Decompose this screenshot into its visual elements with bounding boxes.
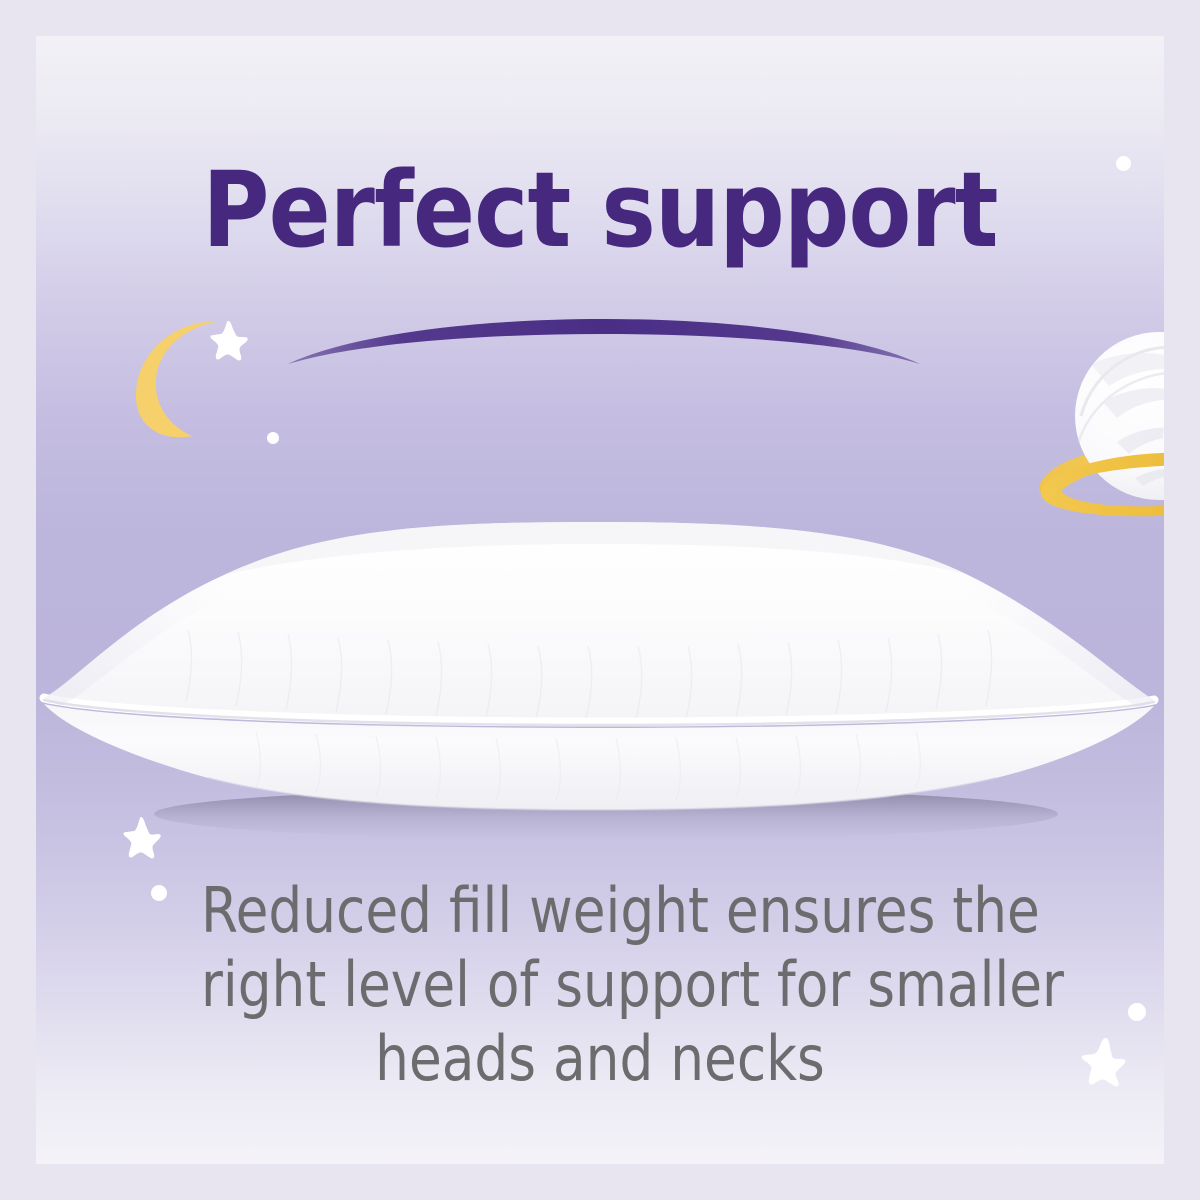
pillow-image [36,466,1164,856]
star-icon [1076,1034,1130,1088]
page-title: Perfect support [104,158,1097,262]
body-copy-line-3: heads and necks [201,1022,999,1096]
body-copy: Reduced fill weight ensures the right le… [201,874,999,1096]
star-icon [118,815,164,861]
arc-underline-icon [286,298,922,374]
body-copy-line-2: right level of support for smaller [201,948,999,1022]
promo-poster: Perfect support [0,0,1200,1200]
body-copy-line-1: Reduced fill weight ensures the [201,874,999,948]
star-icon [206,319,250,363]
dot-icon [267,432,279,444]
dot-icon [151,885,167,901]
dot-icon [1116,156,1131,171]
dot-icon [1128,1003,1146,1021]
poster-panel: Perfect support [36,36,1164,1164]
pillow-illustration [36,466,1164,856]
